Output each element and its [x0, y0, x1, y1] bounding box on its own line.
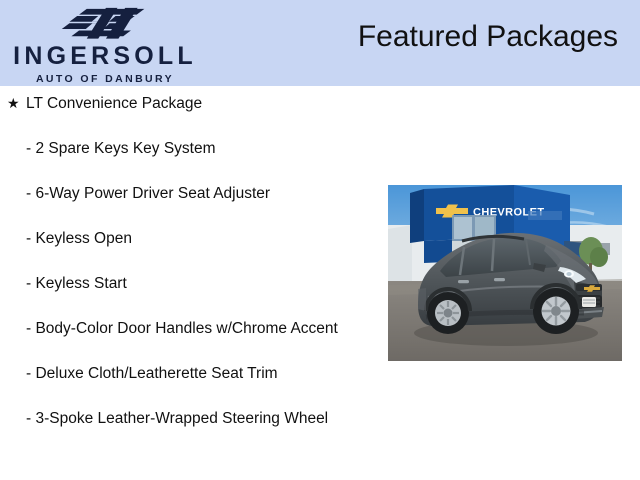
vehicle-photo-image: CHEVROLET [388, 185, 622, 361]
feature-item: - Keyless Start [0, 274, 372, 293]
feature-item: - 6-Way Power Driver Seat Adjuster [0, 184, 372, 203]
feature-item-label: - Body-Color Door Handles w/Chrome Accen… [26, 319, 356, 338]
feature-item: - Deluxe Cloth/Leatherette Seat Trim [0, 364, 372, 383]
content-area: ★LT Convenience Package- 2 Spare Keys Ke… [0, 86, 640, 480]
feature-item: - Body-Color Door Handles w/Chrome Accen… [0, 319, 372, 338]
feature-list: ★LT Convenience Package- 2 Spare Keys Ke… [0, 86, 372, 454]
dealer-logo: INGERSOLL AUTO OF DANBURY [0, 2, 210, 84]
feature-item-label: LT Convenience Package [26, 94, 356, 113]
feature-item: - Keyless Open [0, 229, 372, 248]
feature-item: - 3-Spoke Leather-Wrapped Steering Wheel [0, 409, 372, 428]
feature-item: ★LT Convenience Package [0, 94, 372, 113]
feature-item-label: - Keyless Start [26, 274, 356, 293]
feature-item-label: - 2 Spare Keys Key System [26, 139, 356, 158]
feature-item-label: - Keyless Open [26, 229, 356, 248]
feature-item-label: - 3-Spoke Leather-Wrapped Steering Wheel [26, 409, 356, 428]
vehicle-photo: CHEVROLET [388, 185, 622, 361]
dealer-name: INGERSOLL [13, 44, 197, 69]
page-title: Featured Packages [358, 20, 618, 53]
feature-item: - 2 Spare Keys Key System [0, 139, 372, 158]
feature-item-label: - Deluxe Cloth/Leatherette Seat Trim [26, 364, 356, 383]
dealer-subtitle: AUTO OF DANBURY [36, 74, 174, 85]
feature-item-label: - 6-Way Power Driver Seat Adjuster [26, 184, 356, 203]
page-header: INGERSOLL AUTO OF DANBURY Featured Packa… [0, 0, 640, 86]
star-bullet-icon: ★ [7, 94, 20, 113]
ingersoll-winged-emblem [46, 5, 164, 42]
